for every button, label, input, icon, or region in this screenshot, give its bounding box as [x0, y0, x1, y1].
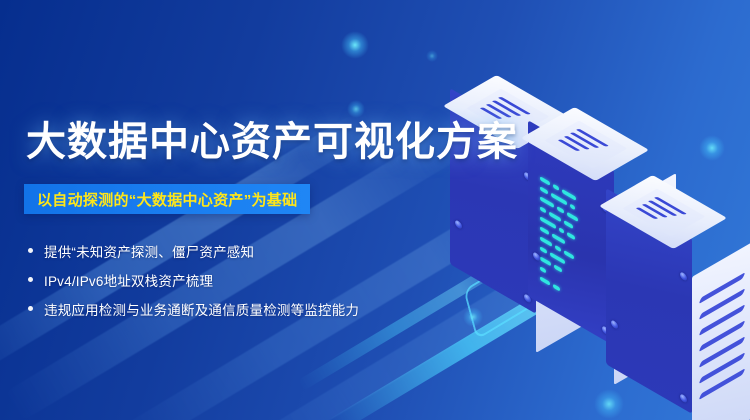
feature-list: 提供“未知资产探测、僵尸资产感知 IPv4/IPv6地址双栈资产梳理 违规应用检… — [28, 236, 428, 323]
rack-side-panel — [692, 241, 750, 420]
bullet-dot-icon — [28, 277, 33, 282]
glow-particle — [341, 31, 369, 59]
list-item: 违规应用检测与业务通断及通信质量检测等监控能力 — [28, 294, 428, 323]
rack-data-readout — [540, 167, 604, 314]
list-item-label: 提供“未知资产探测、僵尸资产感知 — [44, 241, 254, 261]
rack-screw — [680, 271, 687, 282]
rack-top-indicator-bars — [555, 129, 609, 160]
page-title: 大数据中心资产可视化方案 — [26, 122, 518, 162]
rack-top-indicator-bars — [633, 197, 687, 228]
list-item: IPv4/IPv6地址双栈资产梳理 — [28, 265, 428, 294]
rack-screw — [455, 219, 462, 230]
glow-particle — [426, 50, 438, 62]
list-item: 提供“未知资产探测、僵尸资产感知 — [28, 236, 428, 265]
glow-particle — [347, 100, 365, 118]
server-rack-right — [606, 185, 750, 420]
rack-screw — [611, 319, 618, 330]
server-rack-illustration — [440, 55, 750, 395]
bullet-dot-icon — [28, 248, 33, 253]
bullet-dot-icon — [28, 306, 33, 311]
rack-vent-slots — [700, 273, 744, 410]
rack-screw — [533, 251, 540, 262]
marketing-banner: 大数据中心资产可视化方案 以自动探测的“大数据中心资产”为基础 提供“未知资产探… — [0, 0, 750, 420]
subtitle-banner: 以自动探测的“大数据中心资产”为基础 — [24, 184, 310, 214]
subtitle-text: 以自动探测的“大数据中心资产”为基础 — [37, 189, 297, 210]
list-item-label: IPv4/IPv6地址双栈资产梳理 — [44, 270, 213, 290]
list-item-label: 违规应用检测与业务通断及通信质量检测等监控能力 — [44, 299, 359, 319]
rack-screw — [680, 393, 687, 404]
